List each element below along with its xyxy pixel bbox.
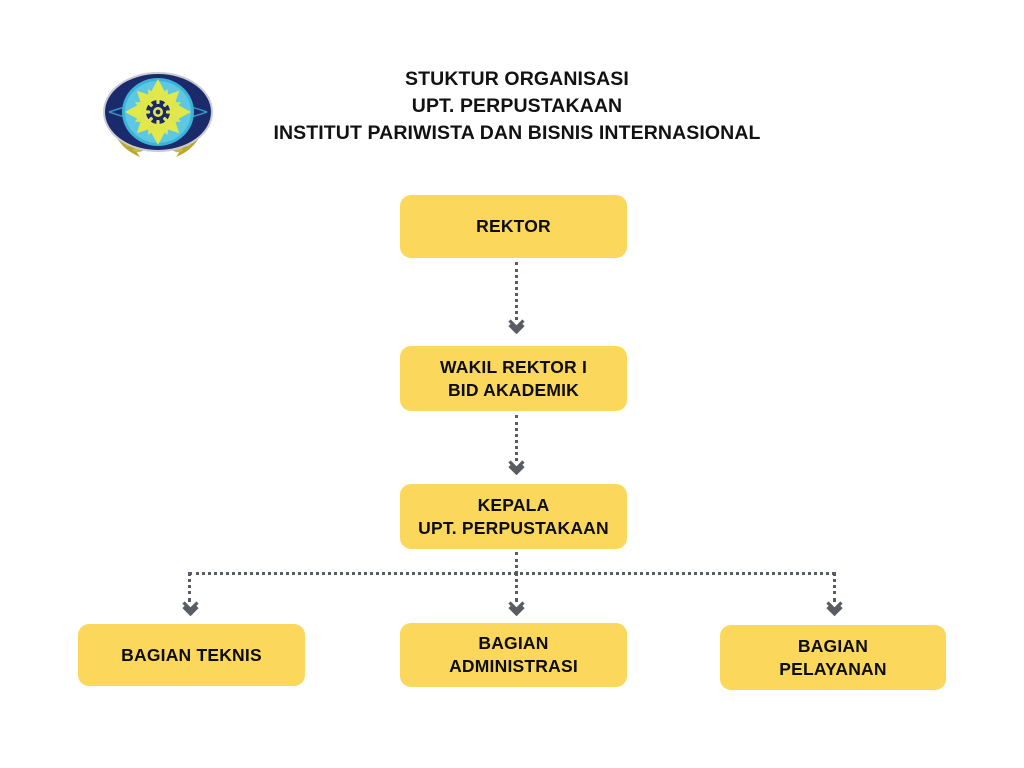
arrowhead-bagian-pelayanan <box>826 601 843 616</box>
org-chart-canvas: STUKTUR ORGANISASI UPT. PERPUSTAKAAN INS… <box>0 0 1024 768</box>
arrowhead-bagian-administrasi <box>508 601 525 616</box>
connector-rektor-to-wakil-rektor <box>515 262 518 320</box>
connector-bus-to-bagian-administrasi <box>515 572 518 602</box>
chart-title-line-1: STUKTUR ORGANISASI <box>237 66 797 93</box>
node-kepala-upt-perpustakaan[interactable]: KEPALA UPT. PERPUSTAKAAN <box>400 484 627 549</box>
node-wakil-rektor-1-line-2: BID AKADEMIK <box>408 379 619 402</box>
connector-wakil-rektor-to-kepala <box>515 415 518 461</box>
node-bagian-teknis[interactable]: BAGIAN TEKNIS <box>78 624 305 686</box>
arrowhead-rektor-to-wakil-rektor <box>508 319 525 334</box>
connector-kepala-stem <box>515 552 518 574</box>
node-bagian-administrasi-line-1: BAGIAN <box>408 632 619 655</box>
node-bagian-administrasi[interactable]: BAGIAN ADMINISTRASI <box>400 623 627 687</box>
node-rektor[interactable]: REKTOR <box>400 195 627 258</box>
node-bagian-teknis-line-1: BAGIAN TEKNIS <box>86 644 297 667</box>
gear-hub-icon <box>143 97 173 127</box>
chart-title: STUKTUR ORGANISASI UPT. PERPUSTAKAAN INS… <box>237 66 797 147</box>
node-wakil-rektor-1[interactable]: WAKIL REKTOR I BID AKADEMIK <box>400 346 627 411</box>
arrowhead-bagian-teknis <box>182 601 199 616</box>
node-bagian-administrasi-line-2: ADMINISTRASI <box>408 655 619 678</box>
chart-title-line-3: INSTITUT PARIWISTA DAN BISNIS INTERNASIO… <box>237 120 797 147</box>
node-rektor-line-1: REKTOR <box>408 215 619 238</box>
node-wakil-rektor-1-line-1: WAKIL REKTOR I <box>408 356 619 379</box>
node-bagian-pelayanan-line-1: BAGIAN <box>728 635 938 658</box>
connector-bus-to-bagian-teknis <box>188 572 191 602</box>
node-bagian-pelayanan[interactable]: BAGIAN PELAYANAN <box>720 625 946 690</box>
chart-title-line-2: UPT. PERPUSTAKAAN <box>237 93 797 120</box>
connector-bus-to-bagian-pelayanan <box>833 572 836 602</box>
arrowhead-wakil-rektor-to-kepala <box>508 460 525 475</box>
node-kepala-line-1: KEPALA <box>408 494 619 517</box>
connector-kepala-bus <box>189 572 835 575</box>
node-bagian-pelayanan-line-2: PELAYANAN <box>728 658 938 681</box>
institution-logo <box>96 54 220 166</box>
node-kepala-line-2: UPT. PERPUSTAKAAN <box>408 517 619 540</box>
